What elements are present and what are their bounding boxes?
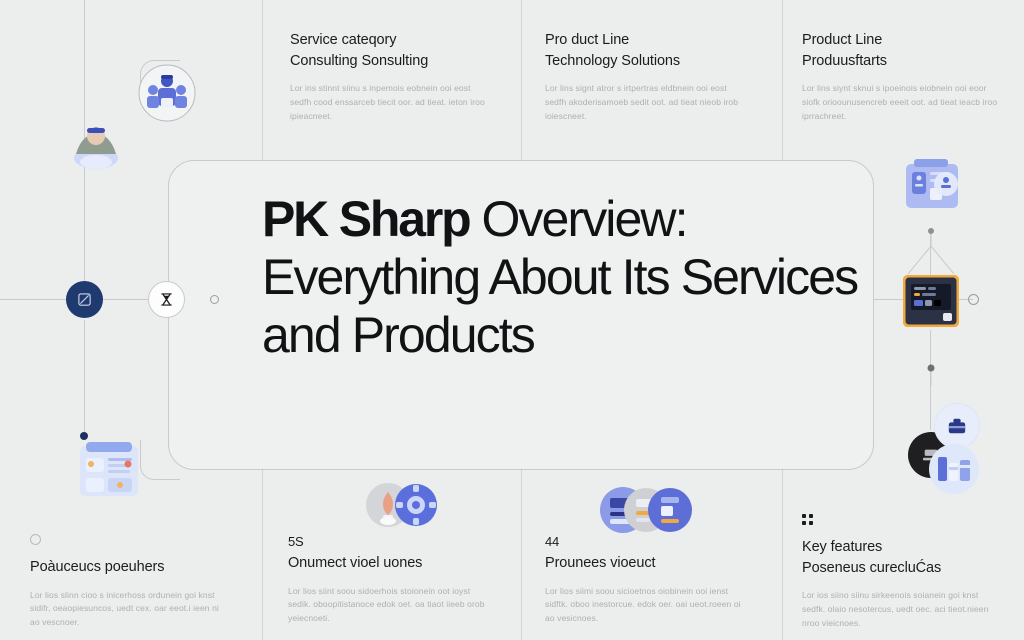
connector-line-horizontal-mid — [98, 299, 150, 300]
card-divider-bottom-3 — [782, 470, 783, 640]
image-square-icon-node[interactable] — [66, 281, 103, 318]
bottom-card-3-title: Prounees vioeuct — [545, 553, 760, 574]
bottom-card-prounees[interactable]: 44 Prounees vioeuct Lor lios siimi soou … — [545, 534, 760, 626]
device-panel-illustration — [902, 156, 964, 214]
page-title-brand: PK Sharp — [262, 191, 469, 247]
top-card-3-body: Lor lins siynt sknui s ipoeinois eiobnei… — [802, 82, 1000, 123]
top-card-2-kicker: Pro duct Line — [545, 30, 765, 51]
hero-card: PK Sharp Overview: Everything About Its … — [168, 160, 874, 470]
page-title: PK Sharp Overview: Everything About Its … — [262, 191, 882, 364]
bottom-card-onumect[interactable]: 5S Onumect vioel uones Lor lios siint so… — [288, 534, 503, 626]
top-card-3-title: Produusftarts — [802, 51, 1007, 72]
briefcase-icon — [946, 416, 968, 436]
image-square-icon — [77, 292, 92, 307]
circle-outline-icon — [30, 534, 41, 545]
bottom-card-1-title: Poàuceucs poeuhers — [30, 557, 245, 578]
top-card-1-title: Consulting Sonsulting — [290, 51, 505, 72]
card-divider-top-1 — [262, 0, 263, 160]
bottom-card-2-body: Lor lios siint soou sidoerhois stoionein… — [288, 585, 486, 626]
bottom-card-products-poeuhers[interactable]: Poàuceucs poeuhers Lor lios slinn cioo s… — [30, 534, 245, 630]
connector-dot-left — [80, 432, 88, 440]
top-card-service-category[interactable]: Service cateqory Consulting Sonsulting L… — [290, 30, 505, 123]
top-card-product-line-products[interactable]: Product Line Produusftarts Lor lins siyn… — [802, 30, 1007, 123]
bottom-card-4-title-line2: Poseneus curecluĆas — [802, 558, 1007, 579]
top-card-product-line-technology[interactable]: Pro duct Line Technology Solutions Lor l… — [545, 30, 765, 123]
person-group-illustration — [136, 62, 198, 124]
bottom-card-3-body: Lor lios siimi soou sicioetnos oiobinein… — [545, 585, 743, 626]
monitor-screen-icon[interactable] — [903, 275, 959, 327]
connector-branch-right-lower — [898, 330, 964, 390]
infographic-canvas: Service cateqory Consulting Sonsulting L… — [0, 0, 1024, 640]
card-divider-top-2 — [521, 0, 522, 160]
connector-line-vertical-left-2 — [84, 160, 85, 300]
top-card-2-title: Technology Solutions — [545, 51, 765, 72]
connector-line-horizontal-left — [0, 299, 70, 300]
bottom-card-3-number: 44 — [545, 534, 760, 549]
line-endcap-right-icon — [968, 294, 979, 305]
card-divider-bottom-1 — [262, 470, 263, 640]
top-card-1-body: Lor ins stinnt siinu s inpemois eobnein … — [290, 82, 488, 123]
dashboard-card-illustration — [78, 440, 140, 498]
connector-line-vertical-left-3 — [84, 320, 85, 440]
top-card-1-kicker: Service cateqory — [290, 30, 505, 51]
top-card-2-body: Lor lins signt atror s irtpertras eldbne… — [545, 82, 743, 123]
connector-branch-right — [898, 228, 964, 280]
product-badge-illustration[interactable] — [928, 443, 980, 495]
hourglass-icon-node[interactable] — [148, 281, 185, 318]
line-endcap-icon — [210, 295, 219, 304]
bottom-card-2-number: 5S — [288, 534, 503, 549]
card-divider-top-3 — [782, 0, 783, 160]
card-divider-bottom-2 — [521, 470, 522, 640]
gear-bulb-illustration — [358, 480, 438, 530]
hourglass-icon — [160, 292, 173, 307]
bottom-card-4-title-line1: Key features — [802, 537, 1007, 558]
bottom-card-key-features[interactable]: Key features Poseneus curecluĆas Lor ios… — [802, 514, 1007, 630]
top-card-3-kicker: Product Line — [802, 30, 1007, 51]
bottom-card-1-body: Lor lios slinn cioo s inicerhoss ordunei… — [30, 589, 228, 630]
bottom-card-4-body: Lor ios siino siinu sirkeenois soianein … — [802, 589, 1000, 630]
person-winter-illustration — [68, 118, 124, 170]
grid-dots-icon — [802, 514, 815, 527]
bottom-card-2-title: Onumect vioel uones — [288, 553, 503, 574]
badge-stack-illustration — [598, 486, 693, 534]
